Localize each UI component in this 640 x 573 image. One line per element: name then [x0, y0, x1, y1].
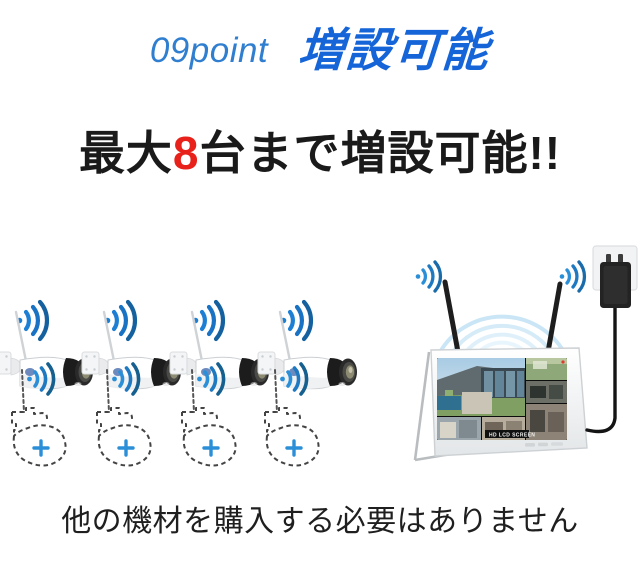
plus-icon — [34, 441, 48, 455]
ghost-camera-1[interactable] — [5, 360, 97, 475]
screen-multiview — [437, 358, 567, 440]
nvr-monitor-unit: HD LCD SCREEN — [385, 240, 640, 500]
main-heading-before: 最大 — [79, 127, 173, 179]
power-adapter — [600, 262, 631, 308]
plus-icon — [287, 441, 301, 455]
bottom-caption: 他の機材を購入する必要はありません — [0, 505, 640, 538]
screen-brand-label: HD LCD SCREEN — [485, 430, 535, 438]
illustration-stage: HD LCD SCREEN — [0, 200, 640, 500]
wifi-icon — [112, 364, 138, 394]
main-heading-after: 台まで増設可能!! — [199, 127, 561, 179]
ghost-camera-3[interactable] — [175, 360, 267, 475]
ghost-camera-2[interactable] — [90, 360, 182, 475]
wifi-icon — [197, 364, 223, 394]
product-infographic: 09point 増設可能 最大8台まで増設可能!! — [0, 0, 640, 573]
wifi-icon — [27, 364, 53, 394]
main-heading: 最大8台まで増設可能!! — [0, 128, 640, 179]
page-title: 増設可能 — [297, 27, 492, 73]
wifi-icon-right — [560, 262, 585, 291]
wifi-icon — [280, 364, 306, 394]
point-label: 09point — [150, 33, 268, 68]
plus-icon — [204, 441, 218, 455]
plus-icon — [119, 441, 133, 455]
wifi-icon-left — [416, 262, 441, 291]
header: 09point 増設可能 — [0, 14, 640, 86]
monitor-label-text: HD LCD SCREEN — [489, 432, 535, 438]
power-cable — [587, 308, 615, 432]
ghost-camera-4[interactable] — [258, 360, 350, 475]
main-heading-highlight: 8 — [173, 127, 200, 179]
